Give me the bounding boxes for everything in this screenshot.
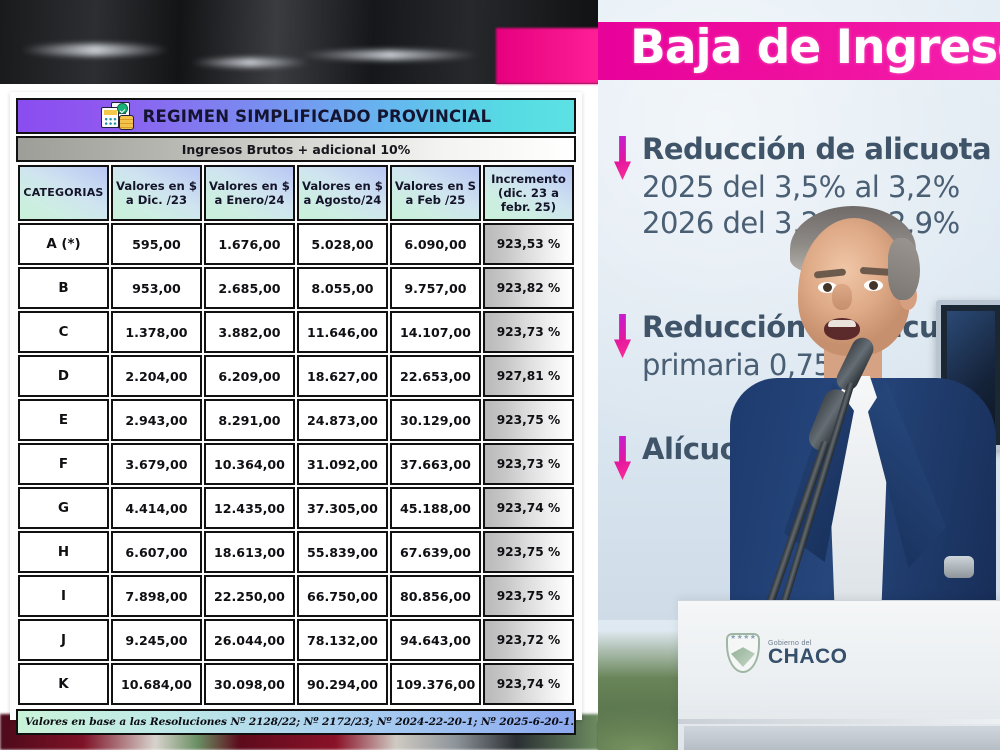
speaker-pupil-left [823,283,832,292]
header-line: a Enero/24 [207,193,292,207]
value-cell-enero24: 8.291,00 [204,399,295,441]
value-cell-enero24: 18.613,00 [204,531,295,573]
chaco-government-logo: ★ ★ ★ ★ Gobierno del CHACO [726,633,848,673]
chaco-logo-big-text: CHACO [768,647,848,667]
speaker-pupil-right [869,281,878,290]
category-cell: F [18,443,109,485]
increment-cell: 923,73 % [483,311,574,353]
table-row: F3.679,0010.364,0031.092,0037.663,00923,… [18,443,574,485]
category-cell: A (*) [18,223,109,265]
slide-banner: Baja de Ingresos [598,22,1000,80]
table-row: I7.898,0022.250,0066.750,0080.856,00923,… [18,575,574,617]
value-cell-feb25: 37.663,00 [390,443,481,485]
header-line: Valores en $ [207,179,292,193]
podium: ★ ★ ★ ★ Gobierno del CHACO [678,600,1000,750]
value-cell-enero24: 22.250,00 [204,575,295,617]
regimen-simplificado-table-card: REGIMEN SIMPLIFICADO PROVINCIAL Ingresos… [10,92,582,720]
increment-cell: 923,75 % [483,575,574,617]
value-cell-agosto24: 8.055,00 [297,267,388,309]
speaker-wristwatch [944,556,974,578]
value-cell-enero24: 1.676,00 [204,223,295,265]
table-row: E2.943,008.291,0024.873,0030.129,00923,7… [18,399,574,441]
header-line: Incremento [486,172,571,186]
header-line: a Agosto/24 [300,193,385,207]
header-line: Valores en $ [300,179,385,193]
star-icon: ★ [737,634,743,641]
photo-highlight [190,58,310,67]
table-row: C1.378,003.882,0011.646,0014.107,00923,7… [18,311,574,353]
value-cell-agosto24: 66.750,00 [297,575,388,617]
increment-cell: 923,75 % [483,531,574,573]
star-icon: ★ [750,634,756,641]
chaco-shield-leaf-icon: ★ ★ ★ ★ [726,633,760,673]
value-cell-enero24: 10.364,00 [204,443,295,485]
coins-icon [119,115,134,130]
category-cell: H [18,531,109,573]
table-subtitle: Ingresos Brutos + adicional 10% [182,142,411,157]
value-cell-enero24: 6.209,00 [204,355,295,397]
logo-stars: ★ ★ ★ ★ [730,634,756,641]
value-cell-dic23: 953,00 [111,267,202,309]
table-row: B953,002.685,008.055,009.757,00923,82 % [18,267,574,309]
increment-cell: 923,73 % [483,443,574,485]
value-cell-feb25: 67.639,00 [390,531,481,573]
table-row: A (*)595,001.676,005.028,006.090,00923,5… [18,223,574,265]
value-cell-agosto24: 90.294,00 [297,663,388,705]
calculator-keys [104,117,117,126]
column-header-feb25: Valores en S a Feb /25 [390,165,481,221]
chaco-logo-text: Gobierno del CHACO [768,640,848,667]
page-title: REGIMEN SIMPLIFICADO PROVINCIAL [143,107,492,126]
value-cell-enero24: 30.098,00 [204,663,295,705]
value-cell-agosto24: 37.305,00 [297,487,388,529]
category-cell: K [18,663,109,705]
value-cell-enero24: 26.044,00 [204,619,295,661]
speaker-hair-side [888,238,920,300]
column-header-enero24: Valores en $ a Enero/24 [204,165,295,221]
slide-bullet-1-line-1: 2025 del 3,5% al 3,2% [642,170,991,204]
calculator-screen [104,110,117,115]
category-cell: G [18,487,109,529]
value-cell-dic23: 6.607,00 [111,531,202,573]
value-cell-dic23: 4.414,00 [111,487,202,529]
value-cell-dic23: 2.204,00 [111,355,202,397]
speaker-eyebrow-left [814,268,847,278]
value-cell-feb25: 6.090,00 [390,223,481,265]
podium-edge [678,719,1000,724]
value-cell-feb25: 30.129,00 [390,399,481,441]
header-line: febr. 25) [486,200,571,214]
column-header-agosto24: Valores en $ a Agosto/24 [297,165,388,221]
photo-magenta-block [496,28,600,84]
increment-cell: 923,53 % [483,223,574,265]
press-conference-photo: Baja de Ingresos Reducción de alicuota 2… [598,0,1000,750]
value-cell-dic23: 10.684,00 [111,663,202,705]
value-cell-agosto24: 31.092,00 [297,443,388,485]
down-arrow-icon [614,136,631,180]
photo-highlight [20,44,170,56]
value-cell-dic23: 2.943,00 [111,399,202,441]
value-cell-feb25: 109.376,00 [390,663,481,705]
value-cell-agosto24: 55.839,00 [297,531,388,573]
category-cell: B [18,267,109,309]
increment-cell: 923,82 % [483,267,574,309]
increment-cell: 923,75 % [483,399,574,441]
check-badge-icon [117,103,128,114]
value-cell-enero24: 2.685,00 [204,267,295,309]
increment-cell: 923,74 % [483,487,574,529]
table-row: J9.245,0026.044,0078.132,0094.643,00923,… [18,619,574,661]
increment-cell: 923,74 % [483,663,574,705]
table-row: D2.204,006.209,0018.627,0022.653,00927,8… [18,355,574,397]
value-cell-dic23: 3.679,00 [111,443,202,485]
value-cell-feb25: 9.757,00 [390,267,481,309]
value-cell-feb25: 22.653,00 [390,355,481,397]
star-icon: ★ [743,634,749,641]
speaker-nose [832,284,852,310]
categories-table: CATEGORIAS Valores en $ a Dic. /23 Valor… [16,163,576,707]
category-cell: I [18,575,109,617]
table-header-row: CATEGORIAS Valores en $ a Dic. /23 Valor… [18,165,574,221]
header-line: a Dic. /23 [114,193,199,207]
table-row: H6.607,0018.613,0055.839,0067.639,00923,… [18,531,574,573]
value-cell-enero24: 12.435,00 [204,487,295,529]
table-subtitle-bar: Ingresos Brutos + adicional 10% [16,136,576,162]
header-line: a Feb /25 [393,193,478,207]
podium-base [684,726,1000,750]
table-footnote-bar: Valores en base a las Resoluciones Nº 21… [16,709,576,735]
document-calculator-coins-icon [101,102,133,130]
star-icon: ★ [730,634,736,641]
value-cell-feb25: 80.856,00 [390,575,481,617]
down-arrow-icon [614,314,631,358]
increment-cell: 923,72 % [483,619,574,661]
category-cell: D [18,355,109,397]
column-header-categorias: CATEGORIAS [18,165,109,221]
value-cell-feb25: 45.188,00 [390,487,481,529]
blurred-photo-top-band [0,0,600,84]
header-line: CATEGORIAS [21,186,106,200]
value-cell-agosto24: 18.627,00 [297,355,388,397]
slide-banner-title: Baja de Ingresos [630,20,1000,75]
header-line: Valores en S [393,179,478,193]
value-cell-feb25: 14.107,00 [390,311,481,353]
value-cell-agosto24: 5.028,00 [297,223,388,265]
table-row: G4.414,0012.435,0037.305,0045.188,00923,… [18,487,574,529]
table-footnote: Valores en base a las Resoluciones Nº 21… [25,716,574,728]
category-cell: E [18,399,109,441]
header-line: (dic. 23 a [486,186,571,200]
header-line: Valores en $ [114,179,199,193]
value-cell-agosto24: 78.132,00 [297,619,388,661]
value-cell-dic23: 7.898,00 [111,575,202,617]
calculator-shape [101,107,119,128]
category-cell: J [18,619,109,661]
table-row: K10.684,0030.098,0090.294,00109.376,0092… [18,663,574,705]
value-cell-dic23: 1.378,00 [111,311,202,353]
value-cell-enero24: 3.882,00 [204,311,295,353]
column-header-incremento: Incremento (dic. 23 a febr. 25) [483,165,574,221]
slide-bullet-1-heading: Reducción de alicuota [642,132,991,166]
value-cell-feb25: 94.643,00 [390,619,481,661]
speaker-mouth [824,318,860,340]
category-cell: C [18,311,109,353]
photo-highlight [300,50,480,60]
value-cell-dic23: 9.245,00 [111,619,202,661]
value-cell-agosto24: 11.646,00 [297,311,388,353]
column-header-dic23: Valores en $ a Dic. /23 [111,165,202,221]
table-title-bar: REGIMEN SIMPLIFICADO PROVINCIAL [16,98,576,134]
increment-cell: 927,81 % [483,355,574,397]
table-body: A (*)595,001.676,005.028,006.090,00923,5… [18,223,574,705]
value-cell-agosto24: 24.873,00 [297,399,388,441]
value-cell-dic23: 595,00 [111,223,202,265]
